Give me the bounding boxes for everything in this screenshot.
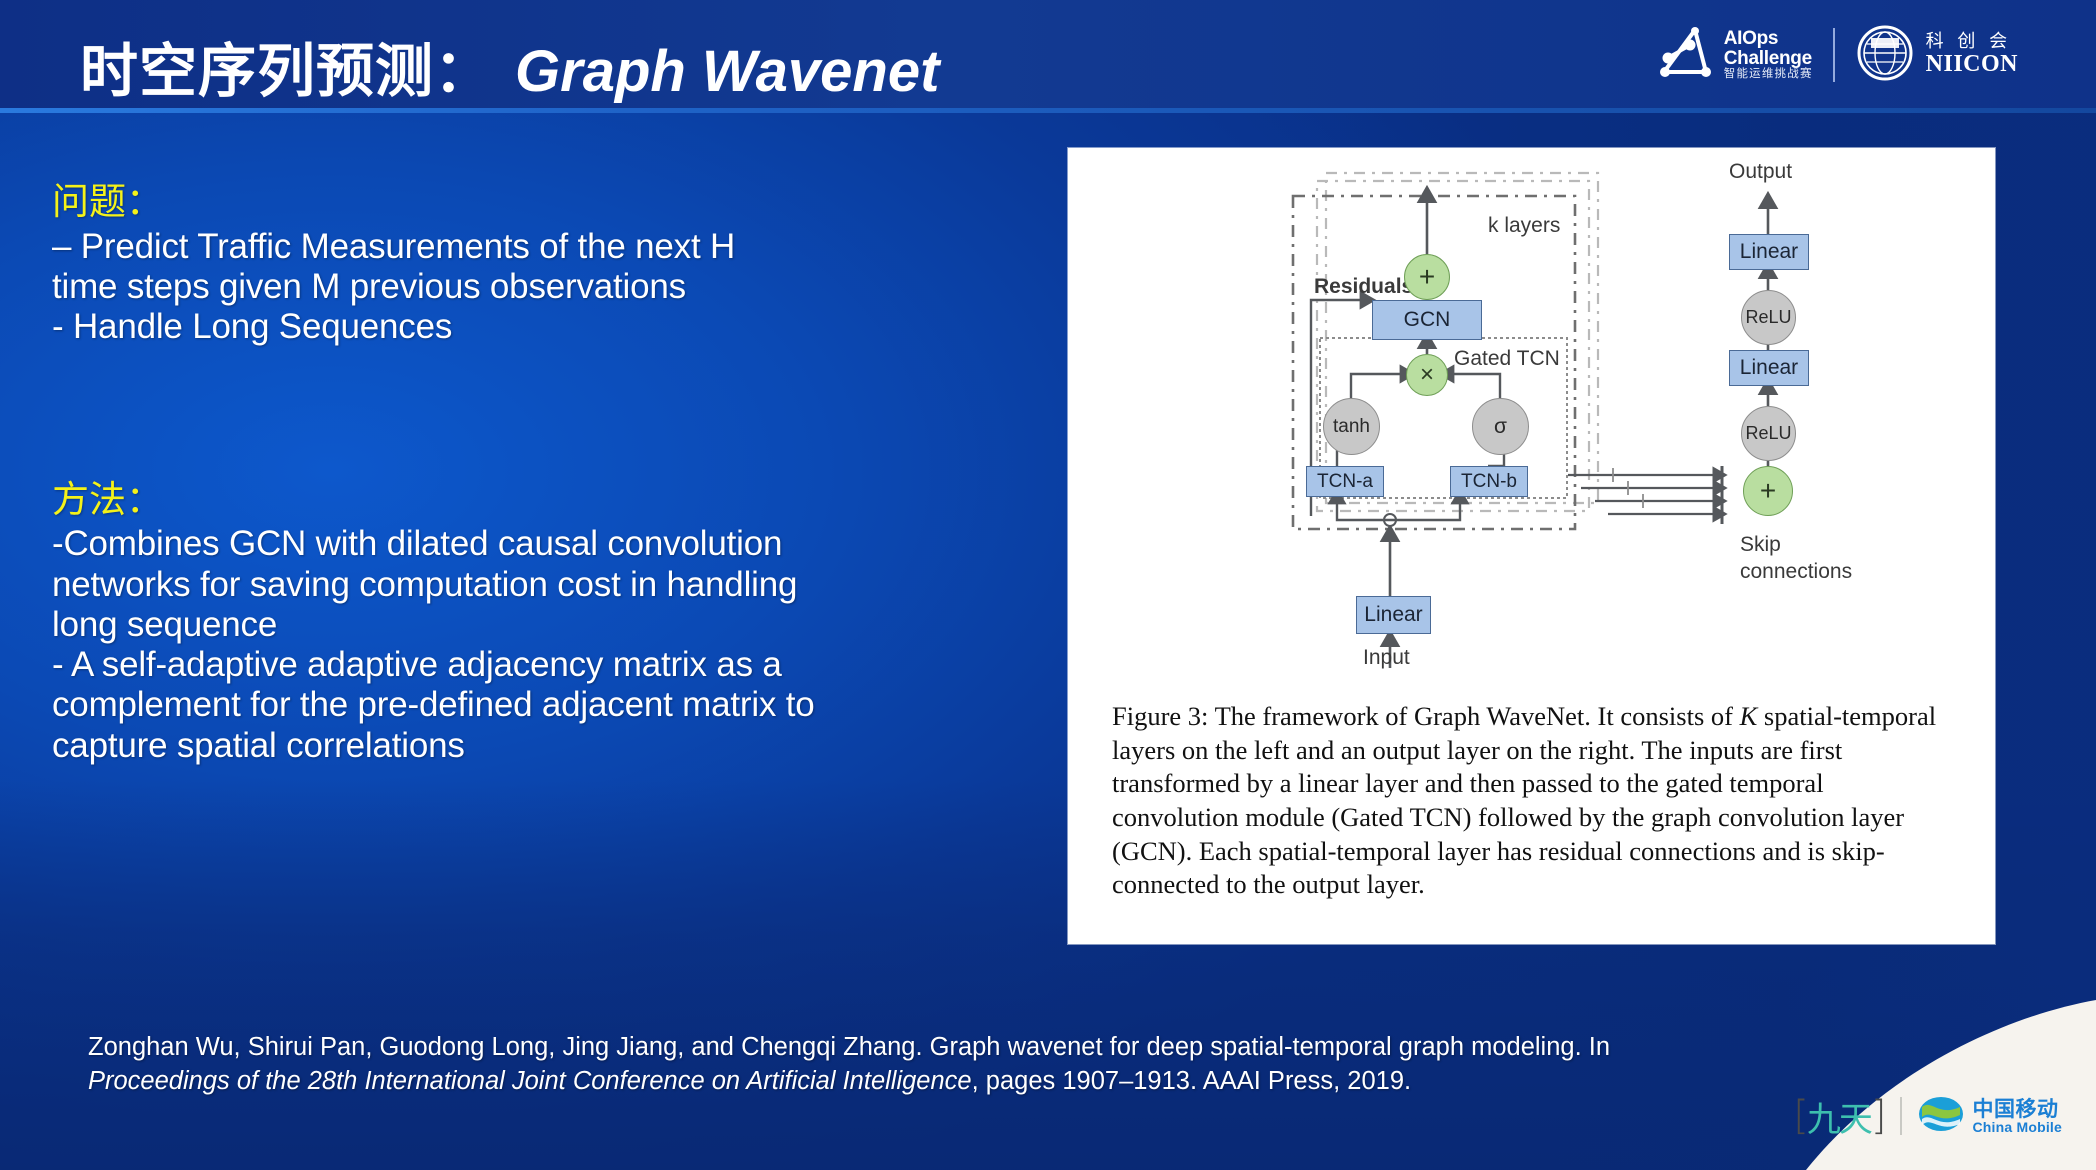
aiops-line1: AIOps xyxy=(1724,29,1813,49)
diagram-label-output: Output xyxy=(1729,160,1792,184)
citation-text: Zonghan Wu, Shirui Pan, Guodong Long, Ji… xyxy=(88,1030,1728,1099)
figure-caption-symbol-k: K xyxy=(1740,701,1758,731)
figure-caption-part1: Figure 3: The framework of Graph WaveNet… xyxy=(1112,701,1740,731)
diagram-node-linear-output-mid: Linear xyxy=(1729,350,1809,386)
header-accent-strip xyxy=(0,108,2096,113)
list-item: – Predict Traffic Measurements of the ne… xyxy=(52,227,912,267)
diagram-node-linear-input: Linear xyxy=(1356,596,1431,634)
diagram-node-skip-add: + xyxy=(1743,466,1793,516)
diagram-node-gate-multiply: × xyxy=(1406,354,1448,396)
method-heading: 方法： xyxy=(52,476,912,525)
diagram-node-tanh: tanh xyxy=(1323,398,1380,455)
diagram-label-skip-line1: Skip xyxy=(1740,533,1781,557)
china-mobile-cn-label: 中国移动 xyxy=(1972,1098,2062,1120)
problem-bullet-list: – Predict Traffic Measurements of the ne… xyxy=(52,227,912,348)
method-section: 方法： -Combines GCN with dilated causal co… xyxy=(52,476,912,766)
list-item: complement for the pre-defined adjacent … xyxy=(52,685,912,725)
footer-logo-divider xyxy=(1900,1097,1902,1135)
china-mobile-swirl-icon xyxy=(1918,1091,1964,1142)
slide-root: 时空序列预测：Graph Wavenet AIOps Challen xyxy=(0,0,2096,1170)
diagram-node-linear-output-top: Linear xyxy=(1729,234,1809,270)
header-logo-group: AIOps Challenge 智能运维挑战赛 科 创 会 xyxy=(1655,22,2018,88)
diagram-node-sigma: σ xyxy=(1472,398,1529,455)
list-item: time steps given M previous observations xyxy=(52,267,912,307)
diagram-label-residuals: Residuals xyxy=(1314,275,1413,299)
method-bullet-list: -Combines GCN with dilated causal convol… xyxy=(52,524,912,766)
page-title-cn: 时空序列预测： xyxy=(80,39,493,104)
diagram-label-gated-tcn: Gated TCN xyxy=(1454,347,1560,371)
diagram-node-tcn-a: TCN-a xyxy=(1306,466,1384,497)
citation-part2: , pages 1907–1913. AAAI Press, 2019. xyxy=(972,1067,1412,1095)
diagram-label-k-layers: k layers xyxy=(1488,214,1560,238)
jiutian-label: 九天 xyxy=(1807,1092,1871,1141)
diagram-node-gcn: GCN xyxy=(1372,300,1482,340)
aiops-line2: Challenge xyxy=(1724,49,1813,69)
citation-part1: Zonghan Wu, Shirui Pan, Guodong Long, Ji… xyxy=(88,1033,1610,1061)
list-item: - Handle Long Sequences xyxy=(52,307,912,347)
problem-section: 问题： – Predict Traffic Measurements of th… xyxy=(52,178,912,348)
china-mobile-text: 中国移动 China Mobile xyxy=(1972,1098,2062,1135)
niicon-logo-text: 科 创 会 NIICON xyxy=(1926,32,2018,77)
list-item: -Combines GCN with dilated causal convol… xyxy=(52,524,912,564)
diagram-node-relu-bottom: ReLU xyxy=(1741,406,1796,461)
left-content-column: 问题： – Predict Traffic Measurements of th… xyxy=(52,178,912,766)
aiops-triangle-network-icon xyxy=(1655,24,1715,87)
list-item: long sequence xyxy=(52,605,912,645)
graph-wavenet-architecture-diagram: Output Input k layers Residuals Gated TC… xyxy=(1068,148,1995,708)
jiutian-logo: [ 九天 ] xyxy=(1793,1092,1884,1141)
footer-logo-group: [ 九天 ] 中国移动 China Mobile xyxy=(1793,1088,2062,1144)
citation-venue-italic: Proceedings of the 28th International Jo… xyxy=(88,1067,972,1095)
figure-panel: Output Input k layers Residuals Gated TC… xyxy=(1068,148,1995,944)
problem-heading: 问题： xyxy=(52,178,912,227)
jiutian-bracket-right-icon: ] xyxy=(1871,1093,1885,1139)
china-mobile-en-label: China Mobile xyxy=(1972,1120,2062,1135)
aiops-challenge-logo: AIOps Challenge 智能运维挑战赛 xyxy=(1655,24,1813,87)
aiops-logo-text: AIOps Challenge 智能运维挑战赛 xyxy=(1724,29,1813,81)
diagram-node-tcn-b: TCN-b xyxy=(1450,466,1528,497)
diagram-node-residual-add: + xyxy=(1404,254,1450,300)
figure-caption: Figure 3: The framework of Graph WaveNet… xyxy=(1112,700,1956,902)
section-spacer xyxy=(52,348,912,476)
page-title: 时空序列预测：Graph Wavenet xyxy=(80,24,939,108)
aiops-line3-cn: 智能运维挑战赛 xyxy=(1724,69,1813,81)
niicon-cn-label: 科 创 会 xyxy=(1926,32,2018,51)
jiutian-bracket-left-icon: [ xyxy=(1793,1093,1807,1139)
list-item: - A self-adaptive adaptive adjacency mat… xyxy=(52,645,912,685)
diagram-label-input: Input xyxy=(1363,646,1410,670)
page-title-en: Graph Wavenet xyxy=(493,39,939,104)
niicon-logo: 科 创 会 NIICON xyxy=(1855,24,2018,87)
niicon-en-label: NIICON xyxy=(1926,52,2018,78)
list-item: networks for saving computation cost in … xyxy=(52,565,912,605)
niicon-globe-seal-icon xyxy=(1855,24,1915,87)
diagram-node-relu-top: ReLU xyxy=(1741,290,1796,345)
china-mobile-logo: 中国移动 China Mobile xyxy=(1918,1091,2062,1142)
list-item: capture spatial correlations xyxy=(52,726,912,766)
header-logo-divider xyxy=(1833,28,1835,82)
diagram-label-skip-line2: connections xyxy=(1740,560,1852,584)
